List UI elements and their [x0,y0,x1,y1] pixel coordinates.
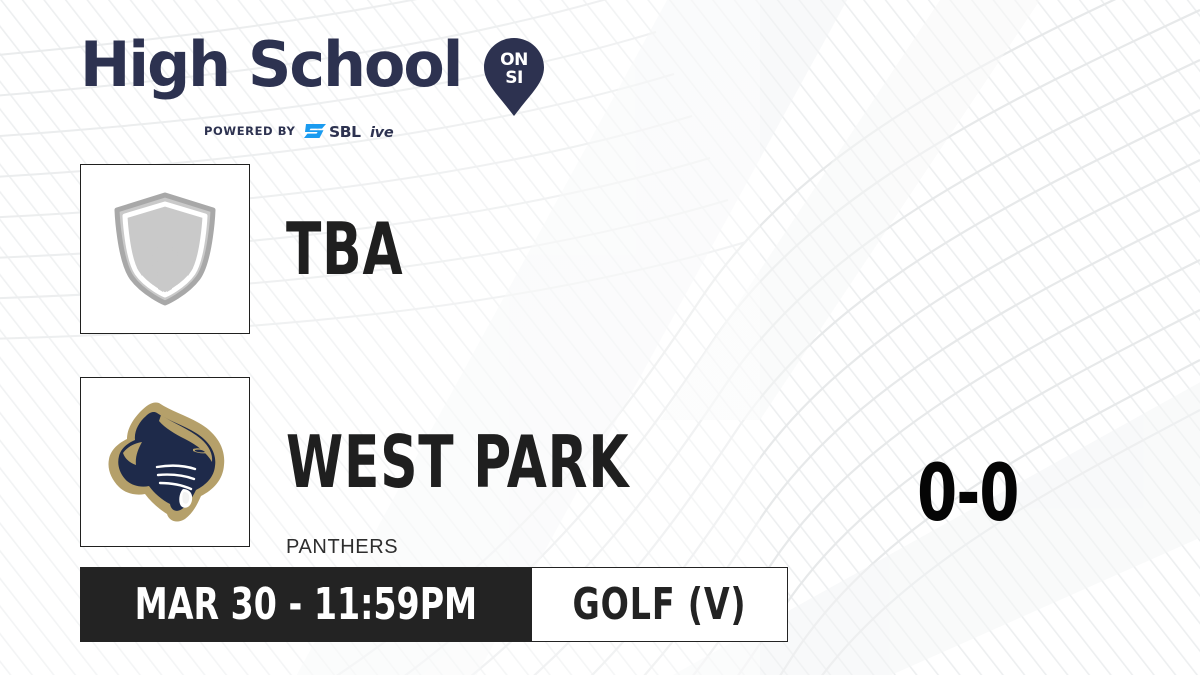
game-datetime-chip: MAR 30 - 11:59PM [80,567,532,642]
game-info-bar: MAR 30 - 11:59PM GOLF (V) [80,567,788,642]
powered-by-label: POWERED BY [204,124,295,138]
game-sport-text: GOLF (V) [572,583,746,627]
pin-si-text: SI [505,68,523,88]
panther-head-icon [97,397,233,527]
game-datetime-text: MAR 30 - 11:59PM [135,583,478,627]
pin-on-text: ON [500,50,528,70]
placeholder-shield-icon [110,190,220,308]
matchup-graphic: High School ON SI POWERED BY SBL ive [0,0,1200,675]
team-row-away: TBA [80,164,433,334]
team-row-home: WEST PARK [80,377,715,547]
brand-lockup: High School ON SI POWERED BY SBL ive [80,36,545,141]
sblive-s-mark-icon [304,124,326,138]
team-logo-box-home [80,377,250,547]
score-value: 0-0 [917,455,1019,533]
brand-wordmark: High School [80,36,461,95]
sblive-logo: SBL ive [304,121,410,141]
team-mascot-label-home: PANTHERS [286,536,398,559]
on-si-map-pin-icon: ON SI [483,37,545,117]
sblive-wordmark-part2: ive [370,125,394,141]
game-sport-chip: GOLF (V) [532,567,788,642]
powered-by-lockup: POWERED BY SBL ive [80,121,545,141]
team-logo-box-away [80,164,250,334]
sblive-wordmark-part1: SBL [329,123,361,141]
team-name-home: WEST PARK [286,426,629,498]
team-name-away: TBA [286,213,403,285]
brand-row: High School ON SI [80,36,545,117]
sblive-logo-icon: SBL ive [304,121,410,141]
